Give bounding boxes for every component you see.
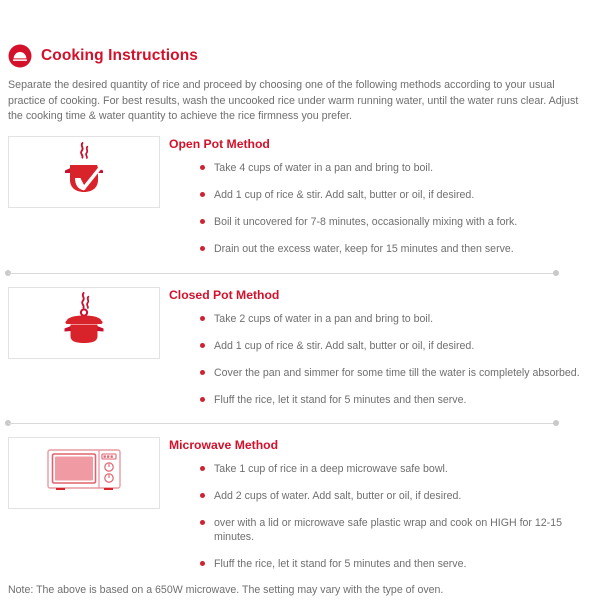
page-header: Cooking Instructions [0, 0, 600, 68]
divider-rule [8, 423, 556, 424]
intro-paragraph: Separate the desired quantity of rice an… [8, 78, 588, 125]
list-item: Boil it uncovered for 7-8 minutes, occas… [200, 215, 584, 229]
section-divider [0, 419, 600, 429]
method-microwave: Microwave Method Take 1 cup of rice in a… [0, 437, 600, 571]
footer-note-wrap: Note: The above is based on a 650W micro… [0, 583, 600, 597]
method-steps: Take 4 cups of water in a pan and bring … [169, 161, 600, 256]
method-body: Open Pot Method Take 4 cups of water in … [169, 136, 600, 256]
list-item: Add 1 cup of rice & stir. Add salt, butt… [200, 188, 584, 202]
list-item: Fluff the rice, let it stand for 5 minut… [200, 393, 584, 407]
closed-pot-icon [53, 291, 115, 354]
microwave-icon [44, 444, 124, 501]
method-thumbnail [8, 136, 160, 208]
list-item: Fluff the rice, let it stand for 5 minut… [200, 557, 584, 571]
method-title: Microwave Method [169, 438, 600, 452]
list-item: Drain out the excess water, keep for 15 … [200, 242, 584, 256]
divider-rule [8, 273, 556, 274]
method-open-pot: Open Pot Method Take 4 cups of water in … [0, 136, 600, 256]
list-item: Cover the pan and simmer for some time t… [200, 366, 584, 380]
list-item: Take 1 cup of rice in a deep microwave s… [200, 462, 584, 476]
cooking-instructions-page: Cooking Instructions Separate the desire… [0, 0, 600, 600]
method-closed-pot: Closed Pot Method Take 2 cups of water i… [0, 287, 600, 407]
rice-bowl-icon [8, 44, 32, 68]
footer-note: Note: The above is based on a 650W micro… [8, 583, 600, 597]
open-pot-icon [53, 140, 115, 203]
list-item: Add 2 cups of water. Add salt, butter or… [200, 489, 584, 503]
method-body: Microwave Method Take 1 cup of rice in a… [169, 437, 600, 571]
method-thumbnail [8, 437, 160, 509]
divider-dot-right [553, 420, 559, 426]
page-title: Cooking Instructions [41, 48, 198, 64]
method-title: Open Pot Method [169, 137, 600, 151]
list-item: Add 1 cup of rice & stir. Add salt, butt… [200, 339, 584, 353]
list-item: over with a lid or microwave safe plasti… [200, 516, 584, 544]
method-title: Closed Pot Method [169, 288, 600, 302]
method-body: Closed Pot Method Take 2 cups of water i… [169, 287, 600, 407]
method-steps: Take 2 cups of water in a pan and bring … [169, 312, 600, 407]
list-item: Take 4 cups of water in a pan and bring … [200, 161, 584, 175]
section-divider [0, 269, 600, 279]
divider-dot-right [553, 270, 559, 276]
list-item: Take 2 cups of water in a pan and bring … [200, 312, 584, 326]
method-steps: Take 1 cup of rice in a deep microwave s… [169, 462, 600, 571]
method-thumbnail [8, 287, 160, 359]
